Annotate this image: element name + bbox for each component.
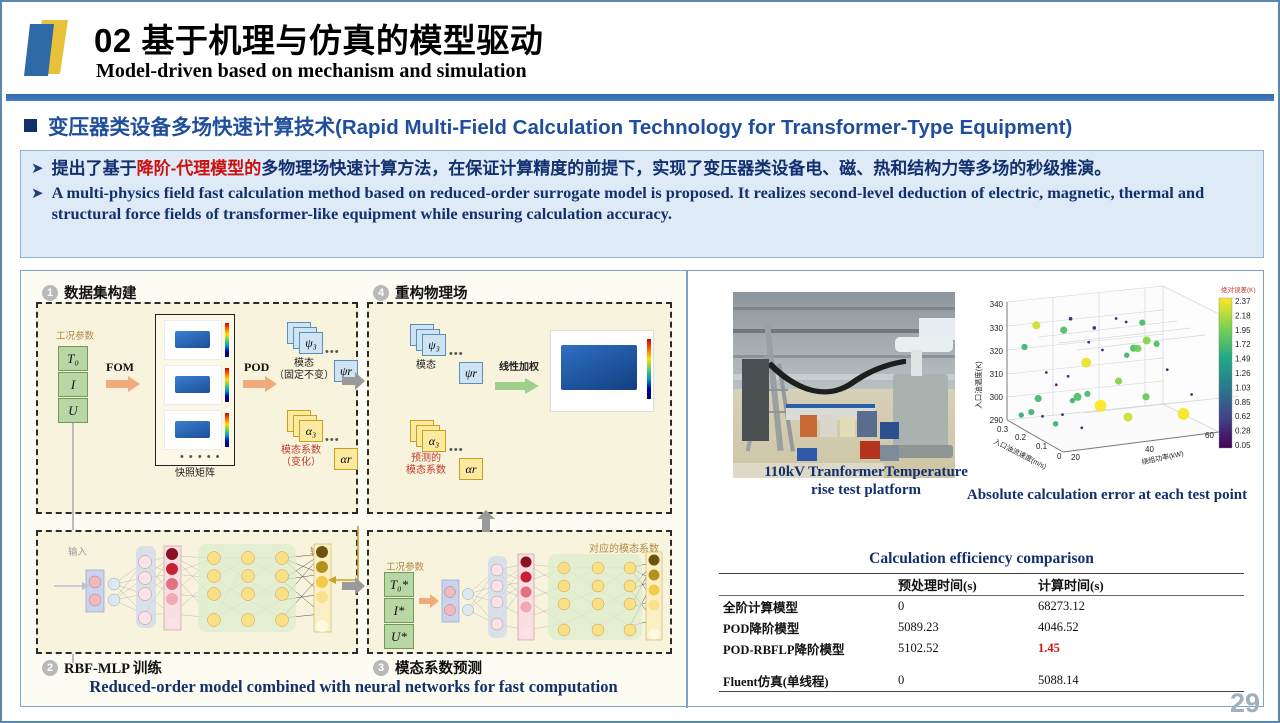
svg-text:0.05: 0.05 — [1235, 441, 1251, 450]
svg-text:1.03: 1.03 — [1235, 383, 1251, 392]
reconstructed-field-image — [550, 330, 654, 412]
diagram-caption: Reduced-order model combined with neural… — [22, 677, 685, 697]
parallelogram-logo-icon — [22, 18, 78, 80]
coef-alphar: αr — [334, 448, 358, 470]
scatter-point — [1053, 421, 1058, 426]
diagram-step-2: 2 RBF-MLP 训练 — [42, 657, 162, 678]
test-platform-photo-wrap — [733, 292, 955, 478]
flow-arrow-right-icon — [342, 577, 366, 595]
step-label: 重构物理场 — [395, 282, 468, 303]
filled-square-bullet-icon — [24, 119, 37, 132]
cell-model-name: POD-RBFLP降阶模型 — [719, 638, 894, 659]
snapshot-thumb — [164, 365, 222, 405]
scatter-point — [1067, 375, 1070, 378]
diagram-step-4: 4 重构物理场 — [373, 282, 468, 303]
slide-header: 02 基于机理与仿真的模型驱动 Model-driven based on me… — [4, 4, 1276, 92]
svg-text:0: 0 — [1057, 452, 1062, 461]
pred-coef-alphar: αr — [459, 458, 483, 480]
recon-mode-label: 模态 — [405, 360, 447, 372]
cell-model-name: 全阶计算模型 — [719, 596, 894, 618]
scatter-point — [1074, 393, 1082, 401]
svg-text:0.3: 0.3 — [997, 425, 1009, 434]
photo-caption-line1: 110kV TranformerTemperature — [733, 464, 999, 482]
svg-text:310: 310 — [990, 370, 1004, 379]
pred-coef-alpha3: α₃ — [422, 430, 446, 452]
cell-calc-time: 68273.12 — [1034, 596, 1244, 618]
content-frame: 1 数据集构建 4 重构物理场 2 RBF-MLP 训练 3 模态系数预测 工况… — [20, 270, 1264, 707]
table-header-row: 预处理时间(s) 计算时间(s) — [719, 574, 1244, 596]
q1-params-title: 工况参数 — [56, 328, 94, 342]
svg-text:2.18: 2.18 — [1235, 311, 1251, 320]
scatter-point — [1124, 353, 1129, 358]
mode-label: 模态 （固定不变） — [274, 358, 334, 381]
scatter-point — [1087, 341, 1090, 344]
transformer-test-platform-photo — [733, 292, 955, 478]
svg-text:20: 20 — [1071, 453, 1080, 462]
bullet-cn-part1: 提出了基于 — [52, 159, 137, 178]
zaxis-title: 入口油温度(K) — [973, 361, 983, 409]
th-calc-time: 计算时间(s) — [1034, 574, 1244, 596]
snapshot-colorbar-icon — [225, 413, 229, 447]
th-preprocess-time: 预处理时间(s) — [894, 574, 1034, 596]
efficiency-table-wrap: Calculation efficiency comparison 预处理时间(… — [719, 550, 1244, 692]
method-diagram: 1 数据集构建 4 重构物理场 2 RBF-MLP 训练 3 模态系数预测 工况… — [22, 272, 685, 706]
step-label: RBF-MLP 训练 — [64, 657, 162, 678]
cell-calc-time: 5088.14 — [1034, 670, 1244, 692]
svg-text:0.85: 0.85 — [1235, 398, 1251, 407]
step-label: 模态系数预测 — [395, 657, 482, 678]
table-title: Calculation efficiency comparison — [719, 550, 1244, 568]
chevron-right-bullet-icon: ➤ — [31, 158, 44, 177]
scatter-point — [1139, 320, 1145, 326]
param-box-I: I — [58, 372, 88, 397]
svg-text:60: 60 — [1205, 431, 1214, 440]
table-spacer-row — [719, 659, 1244, 670]
svg-text:40: 40 — [1145, 445, 1154, 454]
diagram-step-3: 3 模态系数预测 — [373, 657, 482, 678]
bullet-en-text: A multi-physics field fast calculation m… — [52, 183, 1253, 225]
bullet-item-cn: ➤ 提出了基于降阶-代理模型的多物理场快速计算方法，在保证计算精度的前提下，实现… — [31, 158, 1253, 181]
param-box-U: U — [58, 398, 88, 423]
svg-text:330: 330 — [990, 324, 1004, 333]
scatter-point — [1055, 383, 1058, 386]
th-blank — [719, 574, 894, 596]
step-number-badge: 1 — [42, 285, 58, 301]
cell-calc-time: 1.45 — [1034, 638, 1244, 659]
pred-coef-label: 预测的 模态系数 — [398, 453, 454, 476]
coef-label: 模态系数 （变化） — [270, 445, 332, 468]
slide-root: 02 基于机理与仿真的模型驱动 Model-driven based on me… — [0, 0, 1280, 723]
scatter-point — [1190, 393, 1193, 396]
recon-mode-psi3: ψ₃ — [422, 334, 446, 356]
scatter-point — [1045, 371, 1048, 374]
cell-calc-time: 4046.52 — [1034, 617, 1244, 638]
recon-mode-ellipsis: ••• — [449, 348, 464, 360]
error-scatter-chart: 340330 320310 300290 0.3 0.2 0.1 0 20 — [967, 280, 1257, 485]
scatter-point — [1115, 378, 1122, 385]
scatter-point — [1021, 344, 1027, 350]
scatter-plot-svg: 340330 320310 300290 0.3 0.2 0.1 0 20 — [967, 280, 1257, 485]
scatter-point — [1125, 321, 1128, 324]
fom-arrow-icon — [106, 376, 142, 392]
table-row: POD-RBFLP降阶模型5102.521.45 — [719, 638, 1244, 659]
snapshot-matrix-frame: • • • • • — [155, 314, 235, 466]
coef-alpha3: α₃ — [299, 420, 323, 442]
scatter-point — [1019, 412, 1024, 417]
param-box-I-star: I* — [384, 598, 414, 623]
scatter-point — [1041, 415, 1044, 418]
bullet-item-en: ➤ A multi-physics field fast calculation… — [31, 183, 1253, 225]
section-heading-label: 变压器类设备多场快速计算技术(Rapid Multi-Field Calcula… — [48, 110, 1072, 140]
calculation-efficiency-table: 预处理时间(s) 计算时间(s) 全阶计算模型068273.12POD降阶模型5… — [719, 573, 1244, 692]
flow-arrow-up-icon — [477, 510, 495, 532]
summary-callout-box: ➤ 提出了基于降阶-代理模型的多物理场快速计算方法，在保证计算精度的前提下，实现… — [20, 150, 1264, 258]
scatter-point — [1124, 413, 1133, 422]
svg-text:1.72: 1.72 — [1235, 340, 1251, 349]
page-number: 29 — [1230, 688, 1260, 719]
linear-weighting-label: 线性加权 — [492, 362, 546, 374]
scatter-point — [1115, 317, 1118, 320]
colorbar-title: 绝对误差(K) — [1221, 285, 1256, 294]
vertical-divider — [686, 271, 688, 708]
chart-caption-line1: Absolute calculation error at each test … — [957, 487, 1257, 505]
table-row: 全阶计算模型068273.12 — [719, 596, 1244, 618]
snapshot-ellipsis: • • • • • — [180, 451, 220, 463]
svg-text:290: 290 — [990, 416, 1004, 425]
svg-text:1.95: 1.95 — [1235, 326, 1251, 335]
scatter-point — [1154, 341, 1160, 347]
scatter-point — [1142, 393, 1149, 400]
scatter-point — [1093, 326, 1097, 330]
step-number-badge: 3 — [373, 660, 389, 676]
rbf-mlp-network-graphic — [48, 538, 360, 650]
cell-preprocess-time: 0 — [894, 670, 1034, 692]
table-row: POD降阶模型5089.234046.52 — [719, 617, 1244, 638]
table-row: Fluent仿真(单线程)05088.14 — [719, 670, 1244, 692]
section-heading: 变压器类设备多场快速计算技术(Rapid Multi-Field Calcula… — [24, 110, 1072, 140]
svg-text:1.49: 1.49 — [1235, 355, 1251, 364]
scatter-point — [1032, 321, 1040, 329]
bullet-cn-highlight: 降阶-代理模型的 — [137, 159, 262, 178]
cell-preprocess-time: 5089.23 — [894, 617, 1034, 638]
results-panel: 110kV TranformerTemperature rise test pl… — [689, 272, 1264, 706]
svg-text:300: 300 — [990, 393, 1004, 402]
page-title: 02 基于机理与仿真的模型驱动 — [94, 14, 543, 62]
scatter-point — [1101, 349, 1104, 352]
scatter-point — [1080, 426, 1083, 429]
scatter-point — [1084, 391, 1090, 397]
snapshot-thumb — [164, 320, 222, 360]
scatter-point — [1081, 358, 1091, 368]
flow-arrow-right-icon — [342, 372, 366, 390]
header-divider — [6, 94, 1274, 101]
svg-text:0.28: 0.28 — [1235, 427, 1251, 436]
snapshot-colorbar-icon — [225, 323, 229, 357]
page-subtitle: Model-driven based on mechanism and simu… — [96, 60, 527, 83]
mode-ellipsis: ••• — [325, 346, 340, 358]
svg-text:0.1: 0.1 — [1036, 442, 1048, 451]
chart-caption: Absolute calculation error at each test … — [957, 487, 1257, 505]
scatter-point — [1095, 400, 1107, 412]
colorbar — [1219, 298, 1232, 448]
scatter-point — [1028, 409, 1034, 415]
snapshot-matrix-label: 快照矩阵 — [155, 468, 235, 480]
param-box-T0-star: T₀* — [384, 572, 414, 597]
svg-text:320: 320 — [990, 347, 1004, 356]
prediction-network-graphic — [440, 550, 668, 650]
bullet-cn-part2: 多物理场快速计算方法，在保证计算精度的前提下，实现了变压器类设备电、磁、热和结构… — [261, 159, 1111, 178]
scatter-point — [1061, 413, 1064, 416]
cell-model-name: Fluent仿真(单线程) — [719, 670, 894, 692]
mode-psi3: ψ₃ — [299, 332, 323, 354]
scatter-point — [1060, 327, 1067, 334]
cell-preprocess-time: 0 — [894, 596, 1034, 618]
scatter-point — [1035, 395, 1042, 402]
pod-arrow-label: POD — [244, 360, 269, 375]
scatter-point — [1143, 336, 1151, 344]
scatter-point — [1166, 368, 1169, 371]
snapshot-colorbar-icon — [225, 368, 229, 402]
param-box-T0: T₀ — [58, 346, 88, 371]
colorbar-tick-labels: 2.372.181.951.721.491.261.030.850.620.28… — [1235, 297, 1251, 450]
cell-preprocess-time: 5102.52 — [894, 638, 1034, 659]
step-number-badge: 2 — [42, 660, 58, 676]
fom-arrow-label: FOM — [106, 360, 134, 375]
scatter-point — [1069, 317, 1073, 321]
svg-text:0.2: 0.2 — [1015, 433, 1027, 442]
svg-text:2.37: 2.37 — [1235, 297, 1251, 306]
step-number-badge: 4 — [373, 285, 389, 301]
diagram-step-1: 1 数据集构建 — [42, 282, 137, 303]
cell-model-name: POD降阶模型 — [719, 617, 894, 638]
svg-text:0.62: 0.62 — [1235, 412, 1251, 421]
param-to-net-arrow-icon — [419, 594, 439, 608]
step-label: 数据集构建 — [64, 282, 137, 303]
recon-mode-psir: ψr — [459, 362, 483, 384]
svg-text:1.26: 1.26 — [1235, 369, 1251, 378]
snapshot-thumb — [164, 410, 222, 450]
param-box-U-star: U* — [384, 624, 414, 649]
svg-text:340: 340 — [990, 300, 1004, 309]
linear-weight-arrow-icon — [495, 378, 541, 394]
scatter-point — [1134, 345, 1141, 352]
scatter-point — [1178, 408, 1190, 420]
chevron-right-bullet-icon: ➤ — [31, 183, 44, 202]
q3-params-title: 工况参数 — [386, 559, 424, 573]
